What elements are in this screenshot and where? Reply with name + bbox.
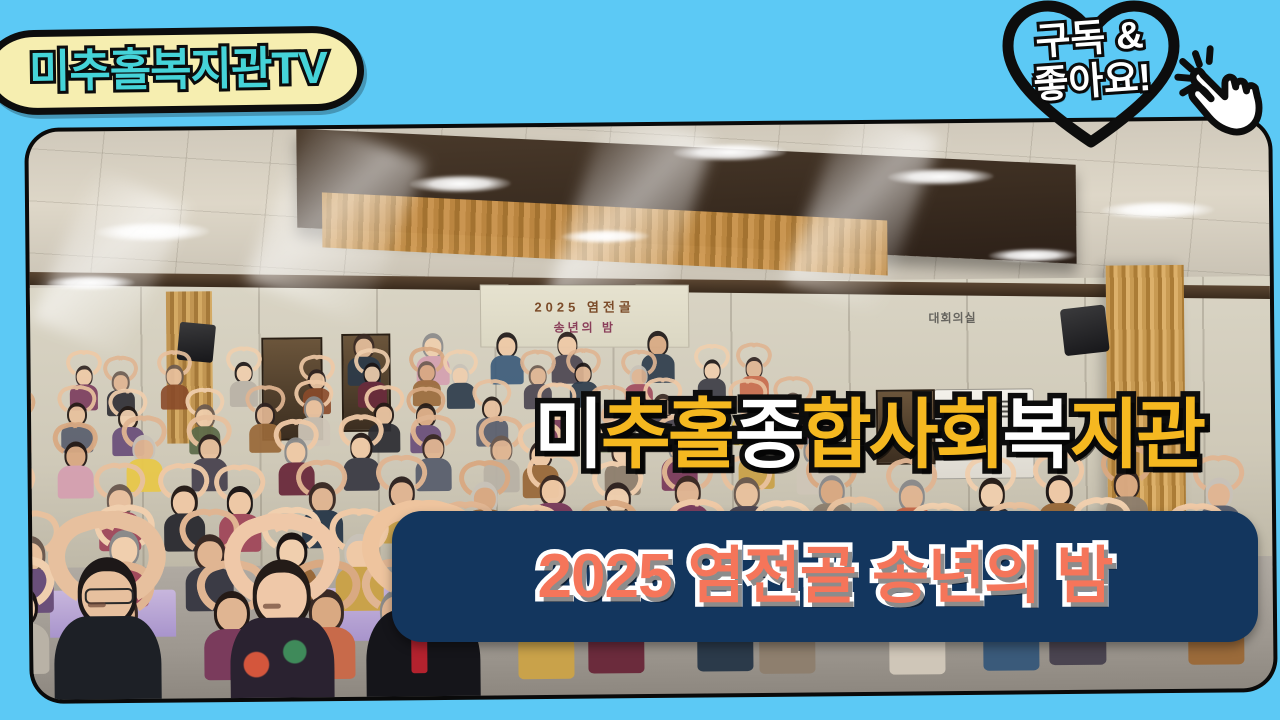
audience-member — [28, 389, 36, 452]
subtitle-text: 2025 염전골 송년의 밤 — [538, 546, 1113, 608]
subscribe-like-sticker[interactable]: 구독 & 좋아요! — [998, 0, 1184, 154]
wall-room-sign: 대회의실 — [928, 309, 976, 326]
channel-name-label: 미추홀복지관TV — [29, 45, 328, 94]
headline-segment-4: 복 — [1002, 393, 1069, 478]
wall-banner-line1: 2025 염전골 — [535, 297, 636, 316]
subtitle-panel: 2025 염전골 송년의 밤 — [392, 511, 1258, 642]
pointing-hand-click-icon — [1166, 32, 1274, 140]
headline-segment-5: 지관 — [1069, 393, 1203, 478]
headline-segment-2: 종 — [735, 393, 802, 478]
headline-segment-0: 미 — [534, 393, 601, 478]
front-row-person — [49, 512, 166, 700]
front-row-person — [225, 514, 340, 700]
thumbnail-canvas: 대회의실 2025 염전골 송년의 밤 미추홀복지관TV 구독 & — [0, 0, 1280, 720]
headline-segment-1: 추홀 — [601, 393, 735, 478]
main-headline: 미추홀종합사회복지관 — [534, 398, 1203, 474]
channel-name-badge[interactable]: 미추홀복지관TV — [0, 25, 364, 115]
headline-segment-3: 합사회 — [802, 393, 1003, 478]
